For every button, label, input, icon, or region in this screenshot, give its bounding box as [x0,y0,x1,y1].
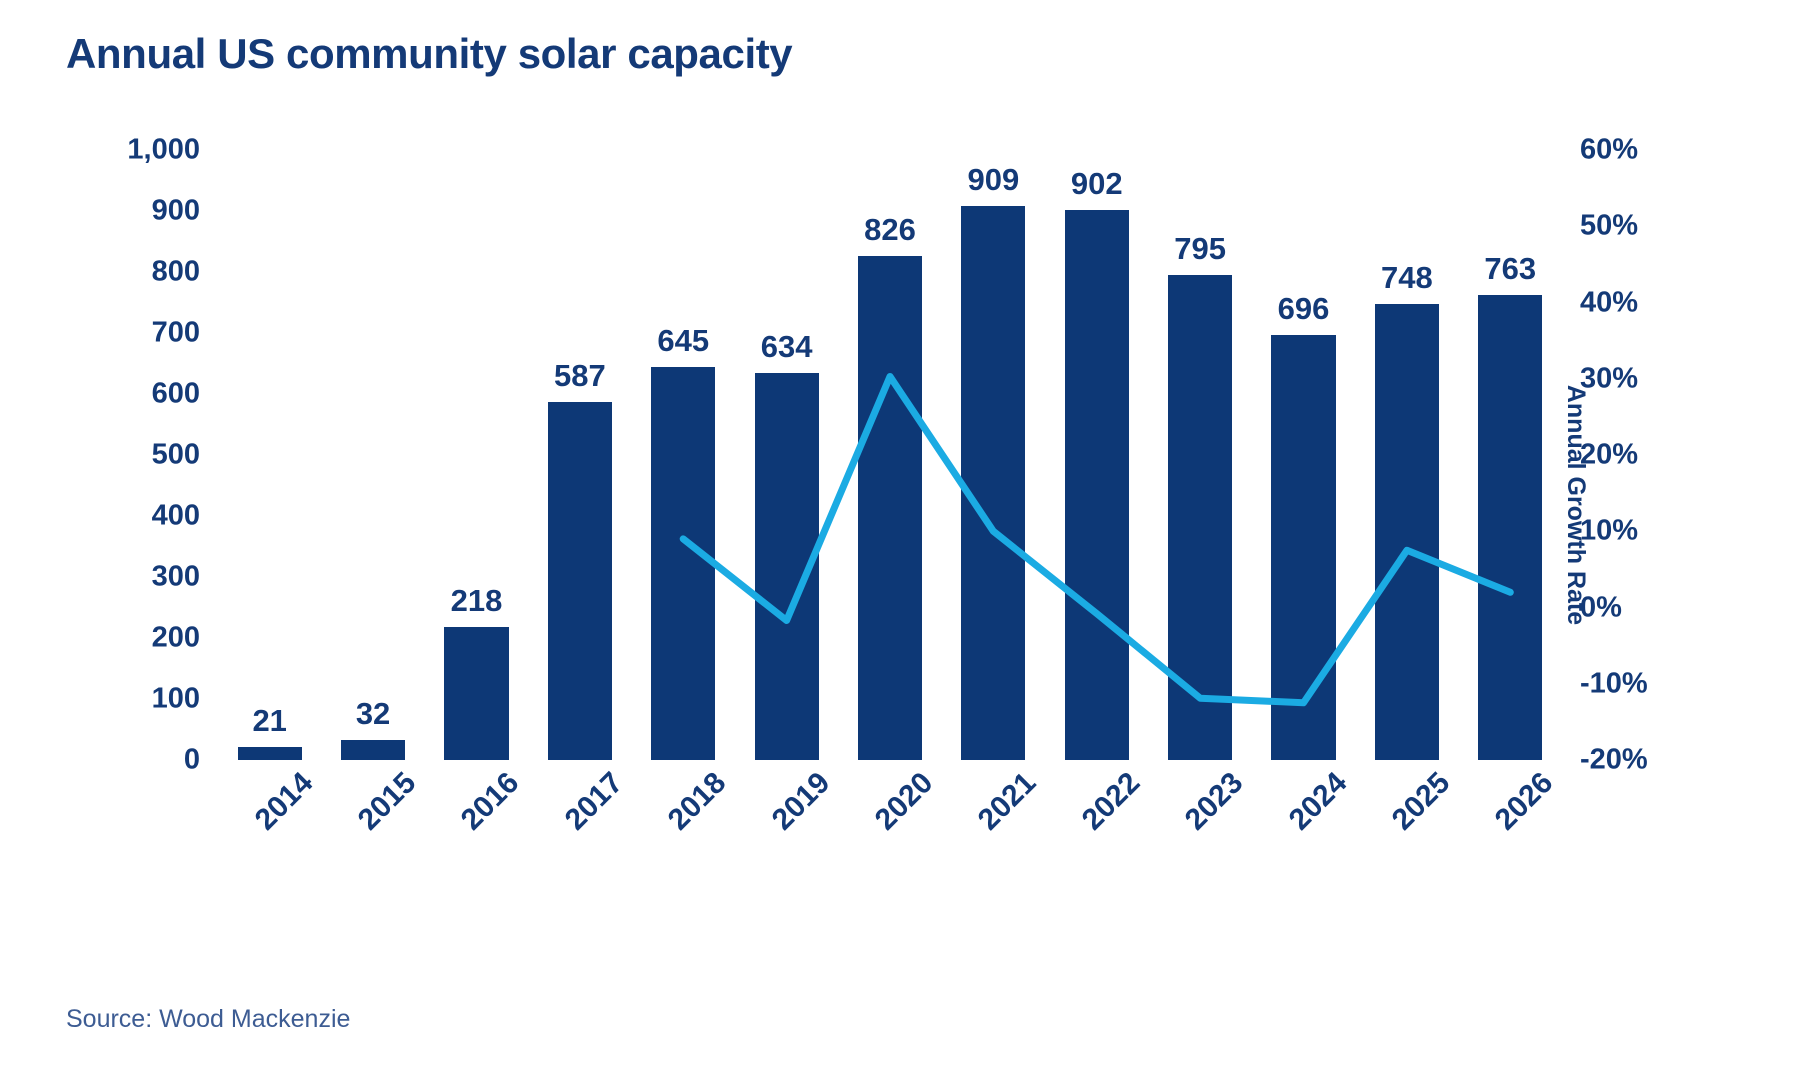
bar-value-label-2019: 634 [761,329,813,365]
bar-2021[interactable] [961,206,1025,760]
left-axis-tick-label: 1,000 [127,134,200,167]
bar-2020[interactable] [858,256,922,760]
left-axis-tick-label: 600 [152,378,200,411]
bar-2019[interactable] [755,373,819,760]
bar-2018[interactable] [651,367,715,760]
bar-2015[interactable] [341,740,405,760]
right-axis-tick-label: 60% [1580,134,1638,167]
bar-value-label-2023: 795 [1174,231,1226,267]
x-axis-tick-label-2022: 2022 [1076,766,1147,837]
x-axis-tick-label-2024: 2024 [1282,766,1353,837]
bar-2017[interactable] [548,402,612,760]
right-axis-tick-label: 40% [1580,286,1638,319]
bar-value-label-2026: 763 [1484,251,1536,287]
bar-2024[interactable] [1271,335,1335,760]
bar-2026[interactable] [1478,295,1542,760]
bar-2025[interactable] [1375,304,1439,760]
x-axis-tick-label-2023: 2023 [1179,766,1250,837]
bar-value-label-2024: 696 [1278,291,1330,327]
right-axis-tick-label: -10% [1580,667,1648,700]
bar-2014[interactable] [238,747,302,760]
left-axis-tick-label: 400 [152,500,200,533]
x-axis-tick-label-2015: 2015 [352,766,423,837]
right-axis-tick-label: 50% [1580,210,1638,243]
bar-2022[interactable] [1065,210,1129,760]
left-axis-tick-label: 0 [184,744,200,777]
right-axis-title: Annual Growth Rate [1561,295,1590,715]
bar-value-label-2021: 909 [968,162,1020,198]
left-axis-tick-label: 700 [152,317,200,350]
bar-2023[interactable] [1168,275,1232,760]
x-axis-tick-label-2014: 2014 [248,766,319,837]
chart-root: Annual US community solar capacity Insta… [0,0,1800,1080]
x-axis-tick-label-2020: 2020 [869,766,940,837]
bar-value-label-2015: 32 [356,696,390,732]
bar-value-label-2016: 218 [451,583,503,619]
right-axis-tick-label: 20% [1580,439,1638,472]
left-axis-tick-label: 300 [152,561,200,594]
bar-value-label-2020: 826 [864,212,916,248]
right-axis-tick-label: 30% [1580,362,1638,395]
left-axis-tick-label: 200 [152,622,200,655]
x-axis-tick-label-2018: 2018 [662,766,733,837]
chart-title: Annual US community solar capacity [66,30,792,78]
left-axis-tick-label: 900 [152,195,200,228]
bar-value-label-2018: 645 [657,323,709,359]
bar-2016[interactable] [444,627,508,760]
x-axis-tick-label-2019: 2019 [765,766,836,837]
left-axis-tick-label: 100 [152,683,200,716]
bar-value-label-2025: 748 [1381,260,1433,296]
right-axis-tick-label: 10% [1580,515,1638,548]
bar-value-label-2022: 902 [1071,166,1123,202]
bar-value-label-2017: 587 [554,358,606,394]
x-axis-tick-label-2026: 2026 [1489,766,1560,837]
bar-value-label-2014: 21 [252,703,286,739]
x-axis-tick-label-2017: 2017 [559,766,630,837]
left-axis-tick-label: 800 [152,256,200,289]
right-axis-tick-label: -20% [1580,744,1648,777]
right-axis-tick-label: 0% [1580,591,1622,624]
x-axis-tick-label-2021: 2021 [972,766,1043,837]
left-axis-tick-label: 500 [152,439,200,472]
plot-area: 01002003004005006007008009001,000 -20%-1… [218,150,1562,760]
source-note: Source: Wood Mackenzie [66,1005,350,1034]
x-axis-tick-label-2016: 2016 [455,766,526,837]
x-axis-tick-label-2025: 2025 [1386,766,1457,837]
